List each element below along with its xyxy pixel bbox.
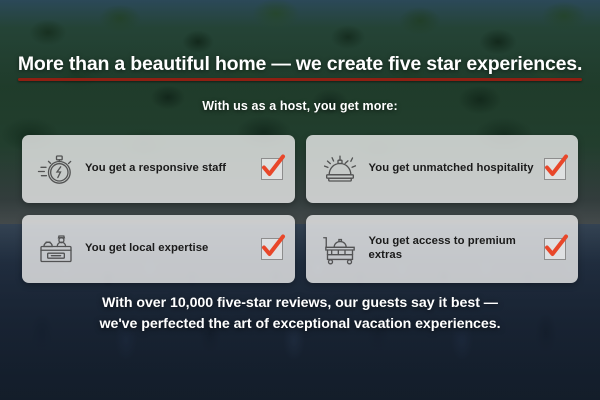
benefit-card[interactable]: You get local expertise [22,215,295,283]
hero-section: More than a beautiful home — we create f… [0,0,600,400]
footer-statement: With over 10,000 five-star reviews, our … [0,293,600,334]
check-icon [258,151,288,181]
service-bell-icon [320,149,360,189]
checkbox-checked[interactable] [544,238,566,260]
footer-line1-post: five-star reviews, our guests say it bes… [213,295,498,311]
concierge-desk-icon [36,229,76,269]
benefit-card[interactable]: You get a responsive staff [22,135,295,203]
check-icon [258,231,288,261]
checkbox-checked[interactable] [261,158,283,180]
footer-line1-pre: With over [102,295,170,311]
stopwatch-icon [36,149,76,189]
benefit-label: You get a responsive staff [76,162,261,176]
benefit-card[interactable]: You get unmatched hospitality [306,135,579,203]
benefit-card-grid: You get a responsive staff You get unma [22,135,578,283]
footer-line-2: we've perfected the art of exceptional v… [0,314,600,335]
check-icon [541,231,571,261]
page-title: More than a beautiful home — we create f… [18,54,582,81]
review-count: 10,000 [170,295,213,311]
headline-container: More than a beautiful home — we create f… [0,54,600,81]
checkbox-checked[interactable] [261,238,283,260]
subheading: With us as a host, you get more: [0,99,600,113]
benefit-label: You get unmatched hospitality [360,162,545,176]
benefit-label: You get access to premium extras [360,235,545,262]
room-service-cart-icon [320,229,360,269]
checkbox-checked[interactable] [544,158,566,180]
benefit-card[interactable]: You get access to premium extras [306,215,579,283]
headline-underline [18,78,582,81]
check-icon [541,151,571,181]
benefit-label: You get local expertise [76,242,261,256]
headline-text: More than a beautiful home — we create f… [18,53,582,75]
footer-line-1: With over 10,000 five-star reviews, our … [0,293,600,314]
